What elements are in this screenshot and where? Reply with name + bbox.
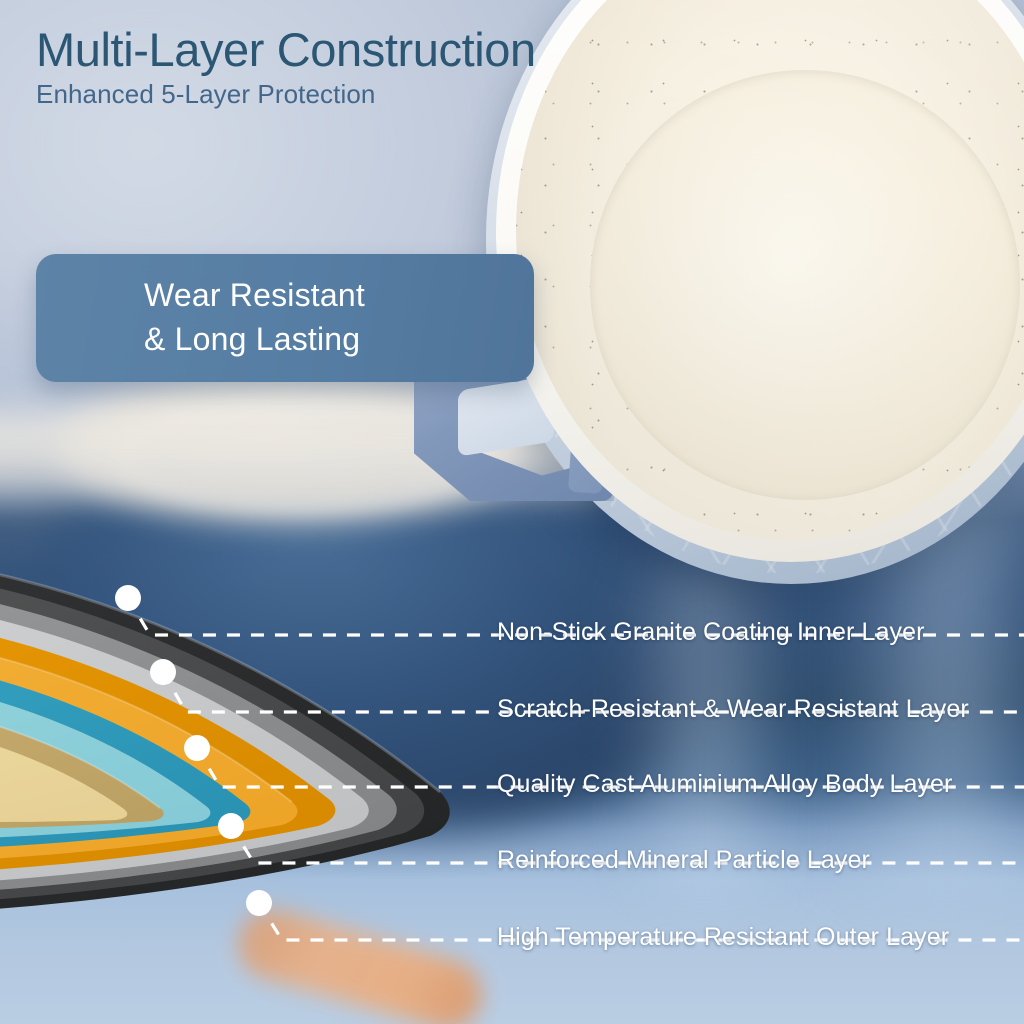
layer-cutaway-diagram [0,496,500,996]
layer-label-5: High Temperature Resistant Outer Layer [497,923,949,952]
page-subtitle: Enhanced 5-Layer Protection [36,79,536,110]
feature-badge-line-1: Wear Resistant [36,274,534,318]
page-title: Multi-Layer Construction [36,26,536,75]
infographic-canvas: Multi-Layer Construction Enhanced 5-Laye… [0,0,1024,1024]
heading-block: Multi-Layer Construction Enhanced 5-Laye… [36,26,536,110]
layer-label-1: Non-Stick Granite Coating Inner Layer [497,618,925,647]
feature-badge-line-2: & Long Lasting [36,318,534,362]
layer-label-3: Quality Cast Aluminium Alloy Body Layer [497,770,953,799]
layer-labels-group: Non-Stick Granite Coating Inner Layer Sc… [497,0,1024,1024]
layer-label-4: Reinforced Mineral Particle Layer [497,846,870,875]
cutaway-shells [0,546,450,921]
layer-label-2: Scratch-Resistant & Wear Resistant Layer [497,695,969,724]
feature-badge: Wear Resistant & Long Lasting [36,254,534,382]
